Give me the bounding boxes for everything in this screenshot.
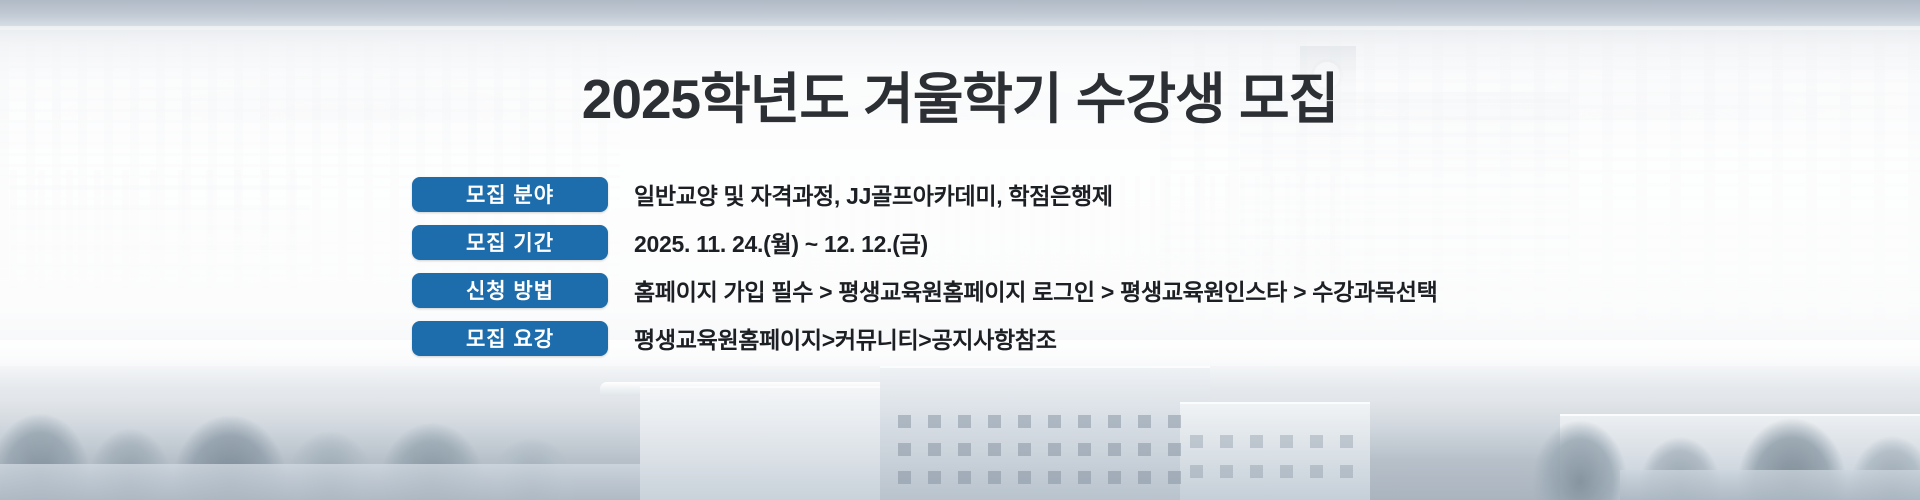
promotional-banner: 2025학년도 겨울학기 수강생 모집 모집 분야 일반교양 및 자격과정, J…	[0, 0, 1920, 500]
banner-title: 2025학년도 겨울학기 수강생 모집	[0, 54, 1920, 134]
label-badge-recruitment-guideline: 모집 요강	[412, 321, 608, 356]
banner-content: 2025학년도 겨울학기 수강생 모집 모집 분야 일반교양 및 자격과정, J…	[0, 0, 1920, 500]
label-badge-application-method: 신청 방법	[412, 273, 608, 308]
label-badge-recruitment-period: 모집 기간	[412, 225, 608, 260]
value-application-method: 홈페이지 가입 필수 > 평생교육원홈페이지 로그인 > 평생교육원인스타 > …	[634, 273, 1437, 307]
info-row-recruitment-period: 모집 기간 2025. 11. 24.(월) ~ 12. 12.(금)	[412, 224, 1437, 260]
info-row-application-method: 신청 방법 홈페이지 가입 필수 > 평생교육원홈페이지 로그인 > 평생교육원…	[412, 272, 1437, 308]
value-recruitment-field: 일반교양 및 자격과정, JJ골프아카데미, 학점은행제	[634, 177, 1113, 211]
value-recruitment-guideline: 평생교육원홈페이지>커뮤니티>공지사항참조	[634, 321, 1057, 355]
info-rows: 모집 분야 일반교양 및 자격과정, JJ골프아카데미, 학점은행제 모집 기간…	[412, 176, 1437, 356]
value-recruitment-period: 2025. 11. 24.(월) ~ 12. 12.(금)	[634, 225, 928, 259]
label-badge-recruitment-field: 모집 분야	[412, 177, 608, 212]
info-row-recruitment-guideline: 모집 요강 평생교육원홈페이지>커뮤니티>공지사항참조	[412, 320, 1437, 356]
info-row-recruitment-field: 모집 분야 일반교양 및 자격과정, JJ골프아카데미, 학점은행제	[412, 176, 1437, 212]
